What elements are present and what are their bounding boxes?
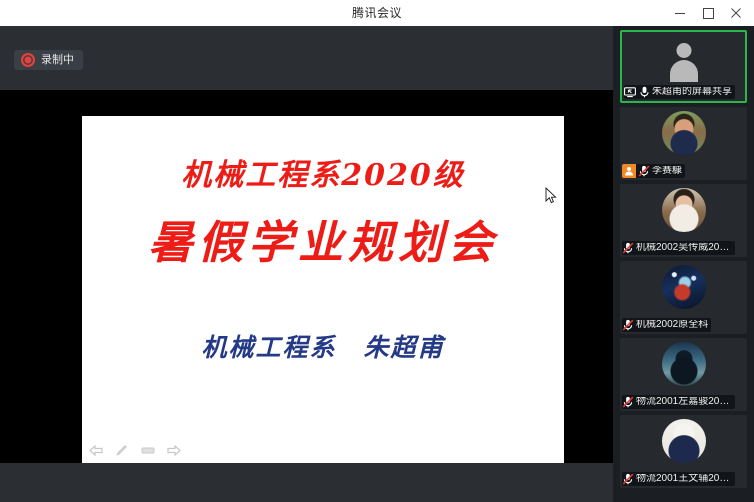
minimize-icon bbox=[675, 13, 685, 14]
participant-info-bar: 机械2002吴传威204130... bbox=[622, 241, 735, 255]
participant-tile-2[interactable]: 机械2002吴传威204130... bbox=[620, 184, 747, 257]
prev-slide-icon[interactable] bbox=[88, 443, 104, 457]
participant-name: 机械2002吴传威204130... bbox=[636, 243, 732, 253]
participant-filmstrip[interactable]: 朱超甫的屏幕共享 bbox=[613, 26, 754, 502]
next-slide-icon[interactable] bbox=[166, 443, 182, 457]
avatar bbox=[662, 419, 706, 463]
pen-icon[interactable] bbox=[114, 443, 130, 457]
shared-screen-stage[interactable]: 录制中 机械工程系2020级 暑假学业规划会 机械工程系 朱超甫 bbox=[0, 26, 613, 502]
microphone-muted-icon bbox=[622, 473, 634, 485]
participant-info-bar: 李赛糠 bbox=[622, 164, 685, 178]
participant-info-bar: 物流2001左嘉骏204110... bbox=[622, 395, 735, 409]
participant-tile-0[interactable]: 朱超甫的屏幕共享 bbox=[620, 30, 747, 103]
participant-info-bar: 物流2001王文辅204101... bbox=[622, 472, 735, 486]
avatar bbox=[662, 265, 706, 309]
record-dot-icon bbox=[21, 53, 35, 67]
participant-name: 物流2001王文辅204101... bbox=[636, 474, 732, 484]
avatar bbox=[662, 342, 706, 386]
participant-tile-5[interactable]: 物流2001王文辅204101... bbox=[620, 415, 747, 488]
avatar bbox=[662, 188, 706, 232]
participant-info-bar: 机械2002原全科 bbox=[622, 318, 711, 332]
mouse-pointer-icon bbox=[545, 187, 557, 205]
screen-share-icon bbox=[624, 86, 636, 98]
window-body: 录制中 机械工程系2020级 暑假学业规划会 机械工程系 朱超甫 bbox=[0, 26, 754, 502]
host-badge-icon bbox=[622, 164, 636, 178]
participant-tile-3[interactable]: 机械2002原全科 bbox=[620, 261, 747, 334]
slide-menu-icon[interactable] bbox=[140, 443, 156, 457]
recording-label: 录制中 bbox=[41, 55, 74, 66]
shared-content-area: 机械工程系2020级 暑假学业规划会 机械工程系 朱超甫 bbox=[0, 90, 613, 463]
slide-heading-2: 暑假学业规划会 bbox=[82, 206, 564, 271]
slide-navigation-controls bbox=[84, 443, 182, 457]
window-title: 腾讯会议 bbox=[0, 0, 754, 26]
participant-name: 物流2001左嘉骏204110... bbox=[636, 397, 732, 407]
avatar bbox=[662, 111, 706, 155]
slide-heading-1: 机械工程系2020级 bbox=[82, 150, 564, 194]
maximize-button[interactable] bbox=[694, 0, 722, 26]
microphone-muted-icon bbox=[622, 242, 634, 254]
microphone-muted-icon bbox=[638, 165, 650, 177]
participant-name: 朱超甫的屏幕共享 bbox=[652, 87, 732, 97]
tencent-meeting-window: 腾讯会议 录制中 bbox=[0, 0, 754, 502]
stage-bottom-bar bbox=[0, 463, 613, 502]
participant-name: 李赛糠 bbox=[652, 166, 682, 176]
participant-name: 机械2002原全科 bbox=[636, 320, 708, 330]
microphone-muted-icon bbox=[622, 396, 634, 408]
participant-tile-1[interactable]: 李赛糠 bbox=[620, 107, 747, 180]
close-icon bbox=[731, 8, 741, 18]
participant-info-bar: 朱超甫的屏幕共享 bbox=[624, 85, 735, 99]
recording-indicator[interactable]: 录制中 bbox=[14, 50, 83, 70]
title-bar: 腾讯会议 bbox=[0, 0, 754, 27]
participant-tile-4[interactable]: 物流2001左嘉骏204110... bbox=[620, 338, 747, 411]
microphone-icon bbox=[638, 86, 650, 98]
presentation-slide[interactable]: 机械工程系2020级 暑假学业规划会 机械工程系 朱超甫 bbox=[82, 116, 564, 463]
stage-toolbar: 录制中 bbox=[0, 26, 613, 90]
microphone-muted-icon bbox=[622, 319, 634, 331]
slide-presenter-line: 机械工程系 朱超甫 bbox=[82, 328, 564, 364]
close-button[interactable] bbox=[722, 0, 750, 26]
minimize-button[interactable] bbox=[666, 0, 694, 26]
window-controls bbox=[666, 0, 750, 26]
maximize-icon bbox=[703, 8, 714, 19]
